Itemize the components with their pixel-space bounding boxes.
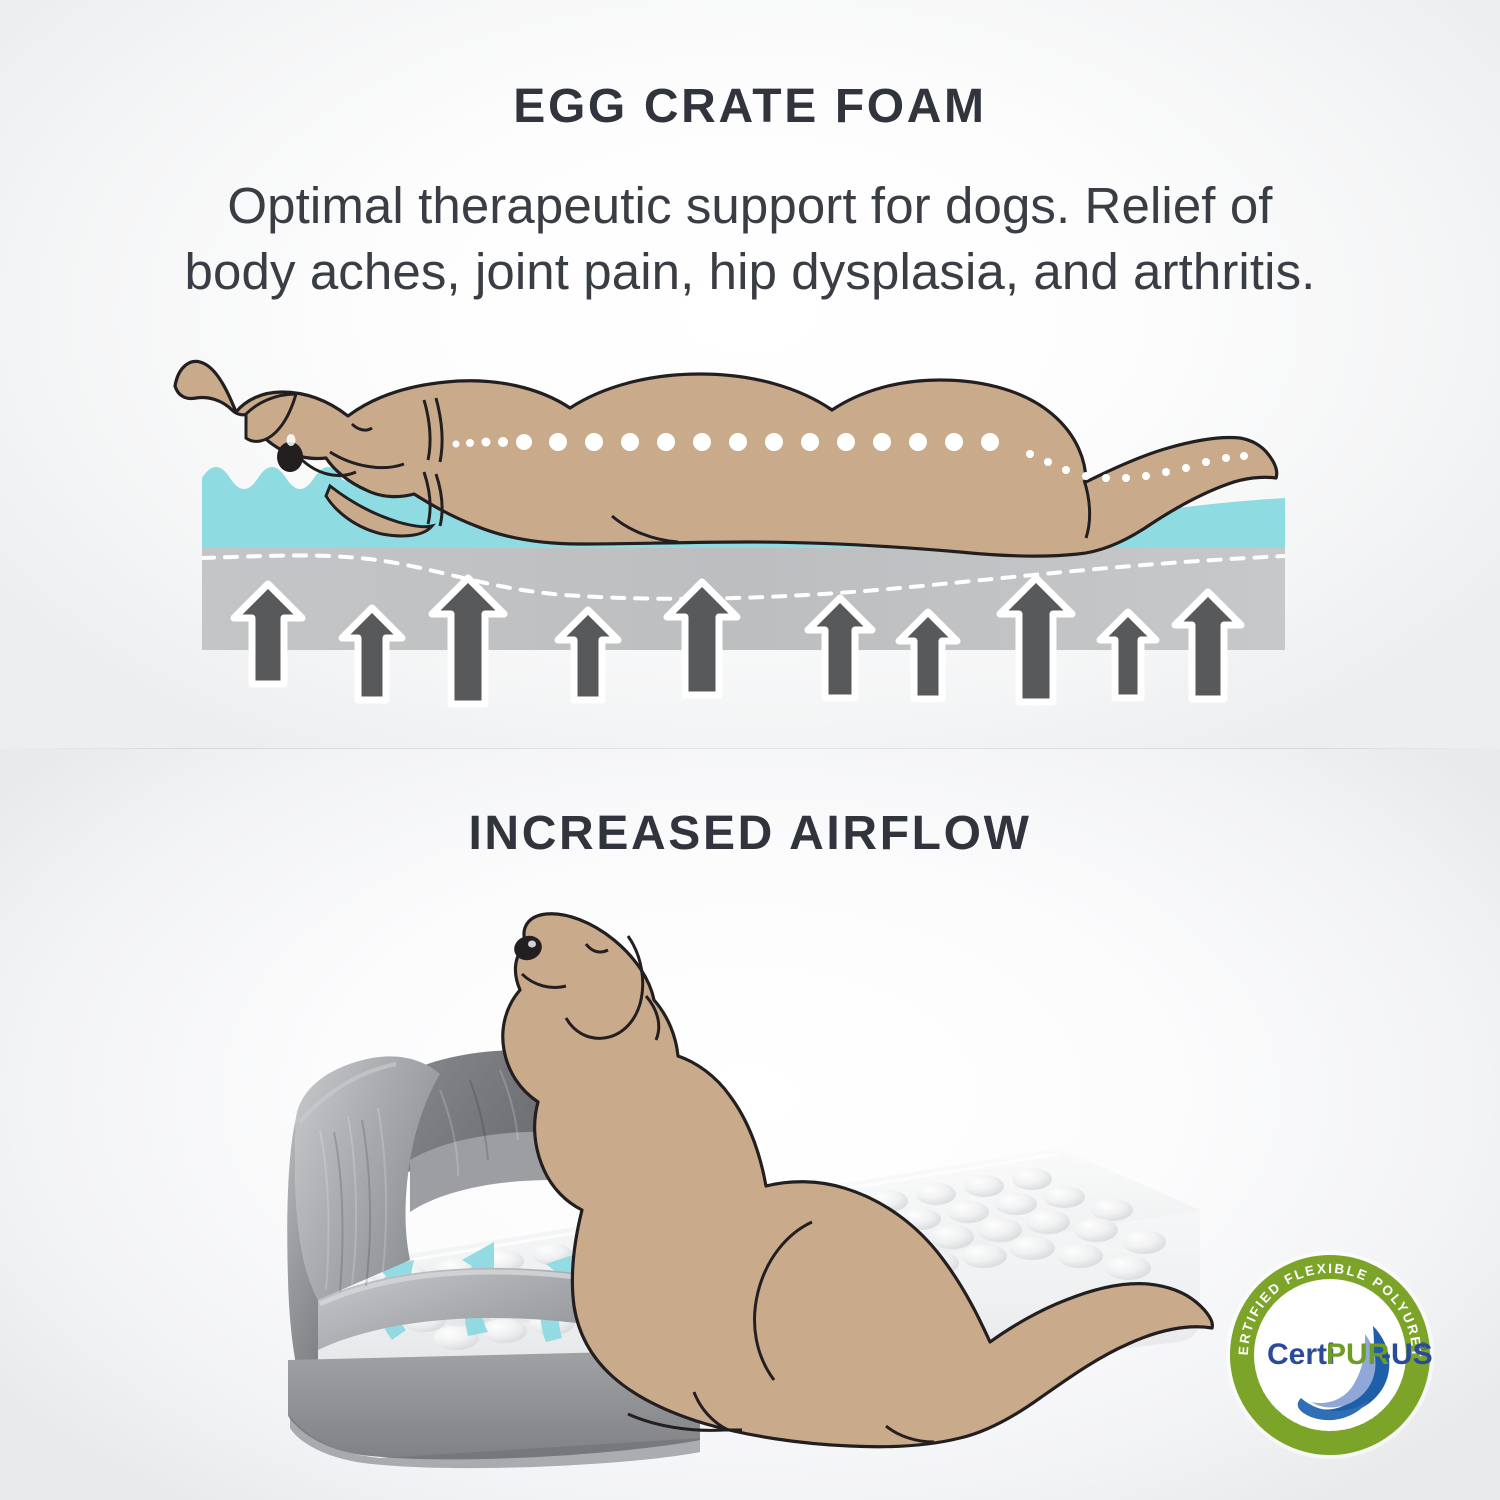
section-heading-increased-airflow: INCREASED AIRFLOW bbox=[0, 806, 1500, 861]
section-subtitle-egg-crate-foam: Optimal therapeutic support for dogs. Re… bbox=[50, 173, 1450, 306]
badge-registered-mark: ® bbox=[1419, 1341, 1427, 1353]
badge-wordmark: Certi PUR -US ® bbox=[1267, 1338, 1433, 1371]
subtitle-line-1: Optimal therapeutic support for dogs. Re… bbox=[50, 173, 1450, 239]
infographic-page: EGG CRATE FOAM Optimal therapeutic suppo… bbox=[0, 0, 1500, 1500]
subtitle-line-2: body aches, joint pain, hip dysplasia, a… bbox=[50, 239, 1450, 305]
illustration-dog-on-foam-cross-section bbox=[0, 330, 1500, 730]
section-heading-egg-crate-foam: EGG CRATE FOAM bbox=[0, 79, 1500, 134]
certipur-us-badge: CONTAINS CERTIFIED FLEXIBLE POLYURETHANE… bbox=[1223, 1248, 1437, 1462]
